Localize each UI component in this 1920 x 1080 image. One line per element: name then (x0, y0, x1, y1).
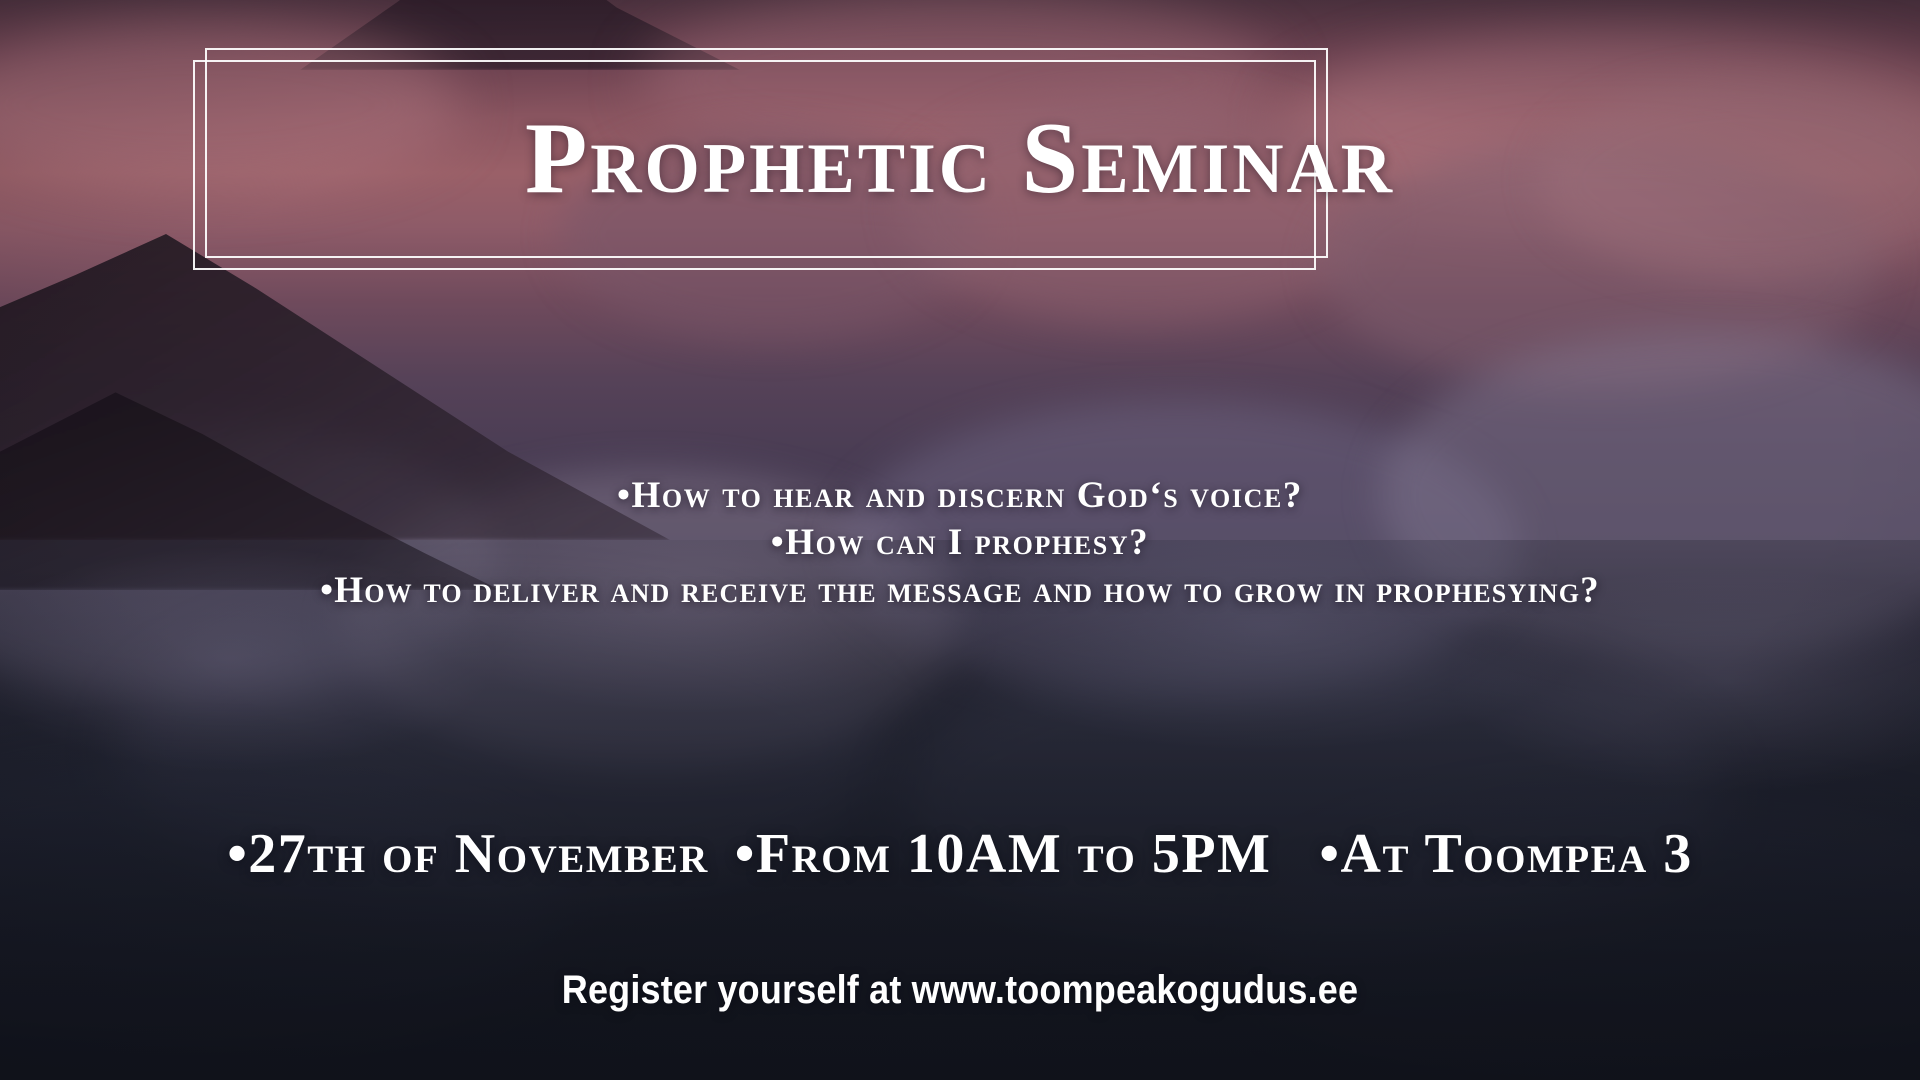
question-item-1: •How to hear and discern God‘s voice? (150, 472, 1770, 519)
poster-content: Prophetic Seminar •How to hear and disce… (0, 0, 1920, 1080)
question-item-2: •How can I prophesy? (150, 519, 1770, 566)
event-venue: •At Toompea 3 (1319, 826, 1692, 882)
event-details-line: •27th of November •From 10AM to 5PM •At … (60, 826, 1860, 882)
question-item-3: •How to deliver and receive the message … (150, 567, 1770, 614)
registration-call-to-action[interactable]: Register yourself at www.toompeakogudus.… (96, 970, 1824, 1010)
event-date: •27th of November (227, 826, 709, 882)
seminar-questions-list: •How to hear and discern God‘s voice? •H… (150, 472, 1770, 614)
poster-canvas: Prophetic Seminar •How to hear and disce… (0, 0, 1920, 1080)
page-title: Prophetic Seminar (0, 108, 1920, 210)
event-time: •From 10AM to 5PM (735, 826, 1272, 882)
